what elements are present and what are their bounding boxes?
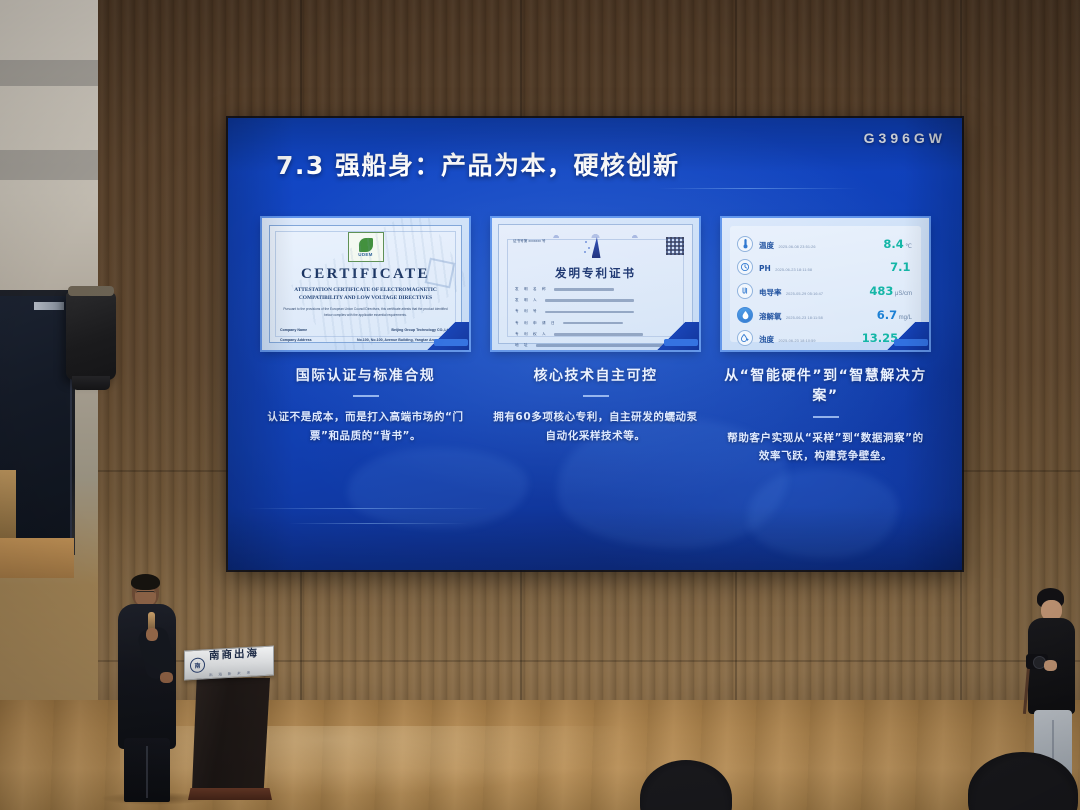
sensor-timestamp: 2025-06-23 18:11:58 [786,316,823,320]
patent-field-value [536,344,674,347]
patent-field-label: 专 利 申 请 日 [515,321,557,326]
patent-field-list: 发 明 名 称 发 明 人 专 利 号 [515,287,674,350]
sensor-timestamp: 2025-06-08 23:51:26 [778,245,815,249]
podium-base [188,788,272,800]
sensor-reading: 6.7mg/L [877,306,912,324]
panel-heading: 国际认证与标准合规 [262,366,469,386]
presenter-hair [131,574,160,590]
sensor-info: 溶解氧 2025-06-23 18:11:58 [759,306,877,324]
ph-gauge-icon [737,259,753,275]
circuit-line [658,188,858,189]
sensor-value: 8.4 [883,237,903,251]
emblem-dot [588,247,590,249]
panel-corner-accent [425,322,469,350]
sensor-unit: mg/L [899,315,912,321]
panel-body-text: 认证不是成本，而是打入高端市场的“门票”和品质的“背书”。 [262,408,469,445]
slide-background: 7.3 强船身：产品为本，硬核创新 G396GW UDEM CERTIF [228,118,962,570]
photographer-hand [1044,660,1057,671]
patent-field-value [545,311,634,314]
patent-field-label: 地 址 [515,343,530,348]
podium-sign-text: 南商出海 出 海 新 未 来 [209,644,268,681]
certificate-subtitle: ATTESTATION CERTIFICATE OF ELECTROMAGNET… [280,286,451,303]
side-room-floor [0,538,74,578]
presenter [112,576,184,802]
patent-image: 证书号第 xxxxxxx 号 发明专利证书 发 [492,218,699,350]
panel-corner-accent [655,322,699,350]
certificate-title: CERTIFICATE [270,266,461,283]
patent-title: 发明专利证书 [499,265,692,281]
sensor-info: 电导率 2025-05-29 05:16:47 [759,282,869,300]
sensor-name: 浊度 [759,335,774,344]
panel-body-text: 拥有60多项核心专利，自主研发的蠕动泵自动化采样技术等。 [492,408,699,445]
panel-heading: 从“智能硬件”到“智慧解决方案” [722,366,929,407]
podium-sign-subtitle: 出 海 新 未 来 [209,671,253,677]
patent-emblem-icon [583,235,609,261]
world-map-graphic [748,468,898,558]
emblem-dot [584,251,586,253]
sensor-info: 温度 2025-06-08 23:51:26 [759,235,883,253]
sensor-dashboard-image: 温度 2025-06-08 23:51:26 8.4℃ [722,218,929,350]
panel-heading: 核心技术自主可控 [492,366,699,386]
patent-field-value [545,299,634,302]
sensor-row: PH 2025-06-23 18:11:58 7.1 [737,256,912,280]
panel-certificate: UDEM CERTIFICATE ATTESTATION CERTIFICATE… [262,218,469,465]
alcove-band [0,60,98,86]
panel-divider [353,395,379,397]
udem-logo-icon: UDEM [348,232,384,262]
patent-number-label: 证书号第 xxxxxxx 号 [513,239,546,244]
channel-watermark: G396GW [864,130,946,146]
podium-body [192,678,270,790]
sensor-row: 电导率 2025-05-29 05:16:47 483μS/cm [737,279,912,303]
patent-field: 发 明 人 [515,298,674,303]
patent-field-label: 专 利 权 人 [515,332,548,337]
panel-divider [813,416,839,418]
sensor-timestamp: 2025-06-23 18:11:58 [775,268,812,272]
sensor-reading: 7.1 [890,258,912,276]
presenter-hand [160,672,173,683]
sensor-info: PH 2025-06-23 18:11:58 [759,258,890,276]
presenter-hand [146,628,158,641]
patent-field-label: 发 明 名 称 [515,287,548,292]
sensor-row: 温度 2025-06-08 23:51:26 8.4℃ [737,232,912,256]
leaf-shape [359,238,373,252]
sensor-name: PH [759,264,771,273]
patent-field-label: 发 明 人 [515,298,539,303]
podium-sign-title: 南商出海 [209,648,259,663]
chair [0,470,16,542]
patent-field: 专 利 号 [515,309,674,314]
panel-row: UDEM CERTIFICATE ATTESTATION CERTIFICATE… [262,218,930,465]
sensor-info: 浊度 2025-06-23 18:10:59 [759,329,862,347]
patent-field-value [554,288,614,291]
sensor-timestamp: 2025-05-29 05:16:47 [786,292,823,296]
udem-logo-text: UDEM [358,252,372,257]
display-indicator [34,302,64,310]
sensor-name: 溶解氧 [759,312,782,321]
turbidity-icon [737,330,753,346]
sensor-value: 6.7 [877,308,897,322]
presenter-leg-gap [146,746,148,798]
panel-corner-accent [885,322,929,350]
sensor-unit: μS/cm [895,291,912,297]
droplet-icon [737,307,753,323]
panel-divider [583,395,609,397]
sensor-name: 电导率 [759,288,782,297]
patent-field: 专 利 申 请 日 [515,321,674,326]
conference-room-photo: 7.3 强船身：产品为本，硬核创新 G396GW UDEM CERTIF [0,0,1080,810]
emblem-dot [585,241,587,243]
wall-speaker [66,292,116,380]
patent-field-value [563,322,623,325]
sensor-timestamp: 2025-06-23 18:10:59 [778,339,815,343]
sensor-reading: 8.4℃ [883,235,912,253]
panel-body-text: 帮助客户实现从“采样”到“数据洞察”的效率飞跃，构建竞争壁垒。 [722,429,929,466]
circuit-line [248,508,488,509]
sensor-name: 温度 [759,241,774,250]
qr-code-icon [666,237,684,255]
glasses-icon [136,591,155,596]
slide-title: 7.3 强船身：产品为本，硬核创新 [276,146,680,182]
sail-shape [592,237,601,258]
certificate-image: UDEM CERTIFICATE ATTESTATION CERTIFICATE… [262,218,469,350]
patent-field: 地 址 [515,343,674,348]
patent-field: 专 利 权 人 [515,332,674,337]
panel-sensors: 温度 2025-06-08 23:51:26 8.4℃ [722,218,929,465]
sensor-value: 483 [869,284,893,298]
sensor-unit: ℃ [905,244,912,250]
podium-sign: 南 南商出海 出 海 新 未 来 [184,645,274,680]
alcove-band [0,150,98,180]
certificate-body-text: Pursuant to the provisions of the Europe… [282,306,449,318]
sensor-value: 7.1 [890,260,910,274]
presentation-screen: 7.3 强船身：产品为本，硬核创新 G396GW UDEM CERTIF [228,118,962,570]
panel-patent: 证书号第 xxxxxxx 号 发明专利证书 发 [492,218,699,465]
seal-icon: 南 [190,657,205,673]
thermometer-icon [737,236,753,252]
patent-field-value [554,333,643,336]
certificate-row-label: Company Name [280,328,307,332]
podium: 南 南商出海 出 海 新 未 来 [190,648,260,806]
patent-field-label: 专 利 号 [515,309,539,314]
circuit-line [288,523,468,524]
sensor-reading: 483μS/cm [869,282,912,300]
patent-field: 发 明 名 称 [515,287,674,292]
certificate-row-label: Company Address [280,338,312,342]
conductivity-icon [737,283,753,299]
